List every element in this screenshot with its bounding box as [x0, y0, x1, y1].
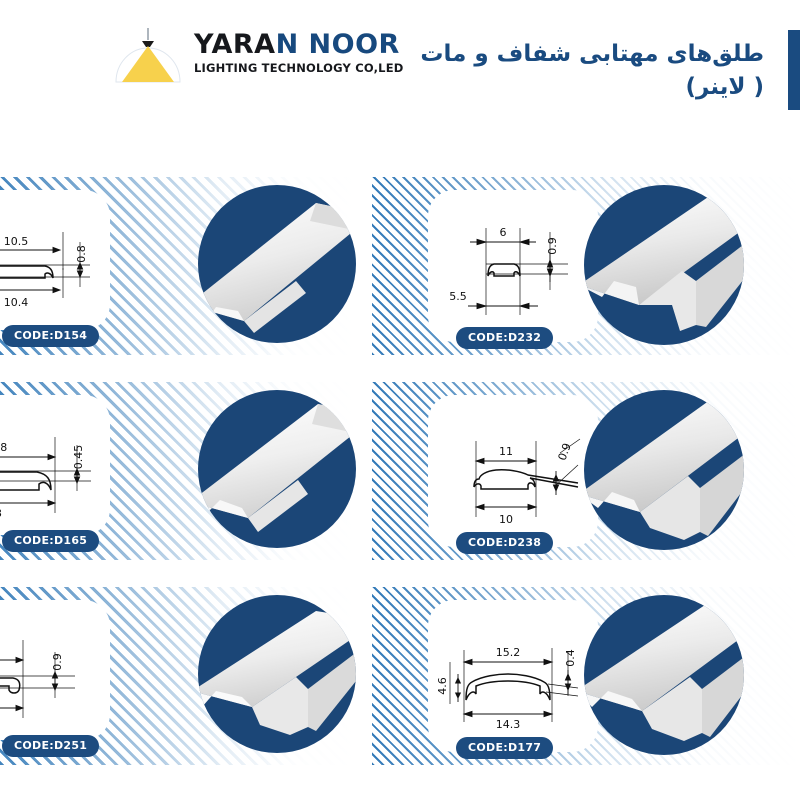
product-cell-d232[interactable]: 6 5.5 0.9 — [372, 177, 800, 355]
svg-text:10.5: 10.5 — [4, 235, 29, 248]
technical-drawing-d251: 17.6 16.8 0.9 — [0, 600, 110, 740]
brand-name: YARAN NOOR — [194, 31, 404, 58]
page-title-line1: طلق‌های مهتابی شفاف و مات — [420, 38, 764, 71]
svg-text:0.9: 0.9 — [556, 441, 574, 462]
product-cell-d251[interactable]: 17.6 16.8 0.9 — [0, 587, 358, 765]
product-cell-d238[interactable]: 11 10 0.9 — [372, 382, 800, 560]
product-cell-d177[interactable]: 15.2 14.3 0.4 4.6 — [372, 587, 800, 765]
svg-text:0.45: 0.45 — [72, 445, 85, 470]
svg-text:5.5: 5.5 — [449, 290, 467, 303]
product-photo-d177 — [584, 595, 744, 755]
svg-text:10: 10 — [499, 513, 513, 526]
pendant-lamp-icon — [112, 22, 184, 84]
svg-text:6: 6 — [500, 226, 507, 239]
technical-drawing-d154: 10.5 10.4 0.8 — [0, 190, 110, 330]
technical-drawing-d238: 11 10 0.9 — [428, 395, 598, 547]
svg-text:0.9: 0.9 — [51, 653, 64, 671]
product-code-d154: CODE:D154 — [2, 325, 99, 347]
svg-text:13.8: 13.8 — [0, 441, 7, 454]
technical-drawing-d232: 6 5.5 0.9 — [428, 190, 598, 342]
catalog-page: YARAN NOOR LIGHTING TECHNOLOGY CO,LED طل… — [0, 0, 800, 800]
technical-drawing-d165: 13.8 13 0.45 — [0, 395, 110, 535]
svg-text:0.8: 0.8 — [75, 245, 88, 263]
svg-text:13: 13 — [0, 507, 2, 520]
svg-text:0.9: 0.9 — [546, 237, 559, 255]
brand-logo: YARAN NOOR LIGHTING TECHNOLOGY CO,LED — [112, 22, 404, 84]
product-code-d165: CODE:D165 — [2, 530, 99, 552]
brand-name-part1: YARA — [194, 29, 276, 60]
title-accent-bar — [788, 30, 800, 110]
brand-name-part2: N NOOR — [276, 29, 400, 60]
page-header: YARAN NOOR LIGHTING TECHNOLOGY CO,LED طل… — [0, 0, 800, 150]
product-grid: 10.5 10.4 0.8 — [0, 150, 800, 800]
page-title-line2: ( لاینر) — [420, 71, 764, 104]
technical-drawing-d177: 15.2 14.3 0.4 4.6 — [428, 600, 598, 752]
svg-text:11: 11 — [499, 445, 513, 458]
svg-text:14.3: 14.3 — [496, 718, 521, 731]
product-code-d177: CODE:D177 — [456, 737, 553, 759]
product-cell-d165[interactable]: 13.8 13 0.45 — [0, 382, 358, 560]
product-photo-d238 — [584, 390, 744, 550]
product-photo-d232 — [584, 185, 744, 345]
svg-text:0.4: 0.4 — [564, 649, 577, 667]
product-cell-d154[interactable]: 10.5 10.4 0.8 — [0, 177, 358, 355]
product-code-d232: CODE:D232 — [456, 327, 553, 349]
product-code-d238: CODE:D238 — [456, 532, 553, 554]
svg-text:4.6: 4.6 — [436, 677, 449, 695]
page-title: طلق‌های مهتابی شفاف و مات ( لاینر) — [420, 38, 764, 105]
product-code-d251: CODE:D251 — [2, 735, 99, 757]
svg-text:15.2: 15.2 — [496, 646, 521, 659]
product-photo-d154 — [198, 185, 356, 343]
product-photo-d165 — [198, 390, 356, 548]
brand-tagline: LIGHTING TECHNOLOGY CO,LED — [194, 63, 404, 75]
svg-text:10.4: 10.4 — [4, 296, 29, 309]
product-photo-d251 — [198, 595, 356, 753]
